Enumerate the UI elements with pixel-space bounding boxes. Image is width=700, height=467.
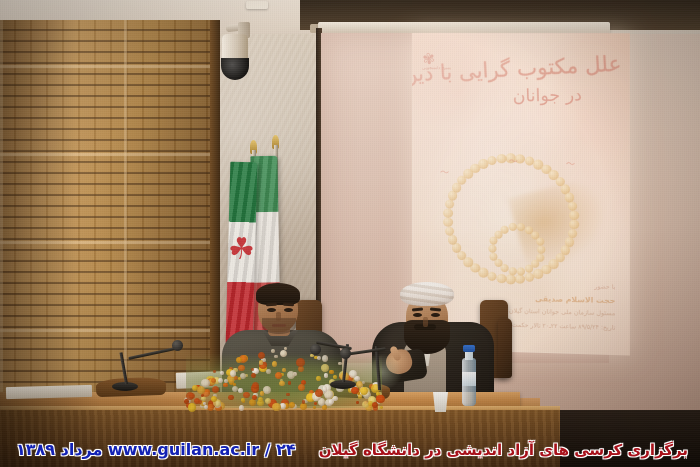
- prayer-bead: [515, 274, 525, 284]
- slide-ornament-3: 〜: [566, 157, 575, 170]
- prayer-bead: [497, 154, 507, 164]
- flower-blossom: [321, 364, 328, 371]
- prayer-bead-inner: [509, 267, 517, 275]
- cleric-eye-left: [413, 313, 422, 317]
- photograph-scene: ✾ بسیج دانشجویی علل مکتوب گرایی با دین گ…: [0, 0, 700, 467]
- flower-blossom: [322, 355, 329, 362]
- footer-event-caption: برگزاری کرسی های آزاد اندیشی در دانشگاه …: [319, 441, 688, 459]
- prayer-bead-inner: [488, 245, 496, 253]
- flower-blossom: [356, 401, 359, 404]
- prayer-bead-inner: [509, 223, 517, 231]
- flower-blossom: [274, 355, 278, 359]
- prayer-bead-inner: [525, 265, 533, 273]
- prayer-bead-inner: [501, 226, 509, 234]
- flower-blossom: [218, 378, 223, 383]
- water-bottle-cap: [463, 345, 475, 352]
- flower-blossom: [279, 381, 285, 387]
- flower-blossom: [302, 400, 305, 403]
- prayer-bead: [569, 210, 579, 220]
- flag-emblem-icon: ☘: [228, 228, 255, 272]
- prayer-bead: [487, 271, 497, 281]
- flower-blossom: [224, 379, 228, 383]
- prayer-bead-inner: [537, 246, 545, 254]
- flower-blossom: [232, 386, 238, 392]
- flower-blossom: [243, 392, 249, 398]
- prayer-bead: [506, 274, 516, 284]
- flower-blossom: [372, 402, 378, 408]
- flower-blossom: [228, 395, 234, 401]
- footer-url-date-caption: www.guilan.ac.ir / ۲۴ مرداد ۱۳۸۹: [16, 440, 296, 459]
- flower-blossom: [223, 383, 228, 388]
- flower-blossom: [317, 356, 321, 360]
- flower-bouquet: [186, 346, 382, 408]
- panelist-left-hair: [256, 283, 300, 305]
- flower-blossom: [236, 357, 242, 363]
- flower-blossom: [252, 395, 257, 400]
- panelist-left-nose: [276, 312, 281, 321]
- flower-blossom: [238, 388, 242, 392]
- water-bottle-label: [462, 372, 476, 386]
- prayer-bead: [524, 272, 534, 282]
- flower-blossom: [198, 400, 202, 404]
- flower-blossom: [289, 402, 295, 408]
- flower-blossom: [324, 373, 328, 377]
- flower-blossom: [211, 396, 217, 402]
- prayer-bead: [569, 220, 579, 230]
- cleric-turban: [400, 282, 454, 306]
- microphone-head-1: [172, 340, 183, 351]
- flower-blossom: [211, 378, 216, 383]
- prayer-bead: [533, 269, 543, 279]
- flower-blossom: [329, 370, 333, 374]
- flower-blossom: [288, 381, 292, 385]
- chair-right-secondary: [498, 318, 512, 378]
- flower-blossom: [201, 379, 210, 388]
- prayer-bead-inner: [517, 223, 525, 231]
- flower-blossom: [240, 373, 246, 379]
- turban-wrap-lines: [400, 282, 454, 306]
- flower-blossom: [234, 376, 238, 380]
- prayer-bead-inner: [490, 252, 498, 260]
- flower-blossom: [201, 394, 204, 397]
- flower-blossom: [300, 403, 307, 410]
- cleric-eye-right: [431, 313, 440, 317]
- flower-blossom: [316, 376, 320, 380]
- prayer-bead: [448, 235, 458, 245]
- slide-foot-line-1: با حضور: [594, 283, 615, 291]
- panelist-left-eye-right: [284, 308, 293, 312]
- flower-blossom: [241, 398, 245, 402]
- flower-blossom: [313, 406, 316, 409]
- prayer-bead: [445, 199, 455, 209]
- prayer-bead: [443, 208, 453, 218]
- prayer-bead-inner: [536, 238, 544, 246]
- prayer-bead: [497, 274, 507, 284]
- panelist-left-mouth: [272, 324, 286, 327]
- prayer-bead: [443, 217, 453, 227]
- flower-blossom: [188, 403, 197, 412]
- ceiling-vent: [246, 1, 268, 9]
- prayer-bead-inner: [517, 267, 525, 275]
- panelist-left-eye-left: [267, 308, 276, 312]
- flower-blossom: [349, 370, 357, 378]
- papers-stack: [6, 385, 92, 399]
- flower-blossom: [333, 375, 337, 379]
- flower-blossom: [266, 369, 271, 374]
- flower-blossom: [189, 393, 195, 399]
- flower-blossom: [249, 399, 256, 406]
- slide-ornament-2: 〜: [509, 154, 518, 167]
- flower-blossom: [212, 386, 219, 393]
- flower-blossom: [272, 403, 280, 411]
- flower-blossom: [296, 358, 305, 367]
- flower-blossom: [358, 394, 362, 398]
- flower-blossom: [258, 397, 263, 402]
- flower-blossom: [272, 361, 277, 366]
- slide-title-line-2: در جوانان: [513, 85, 583, 107]
- cleric-nose: [423, 317, 428, 327]
- microphone-head-3: [340, 348, 351, 359]
- microphone-head-2: [310, 344, 321, 355]
- flower-blossom: [263, 386, 271, 394]
- slide-ornament-1: 〜: [440, 165, 449, 178]
